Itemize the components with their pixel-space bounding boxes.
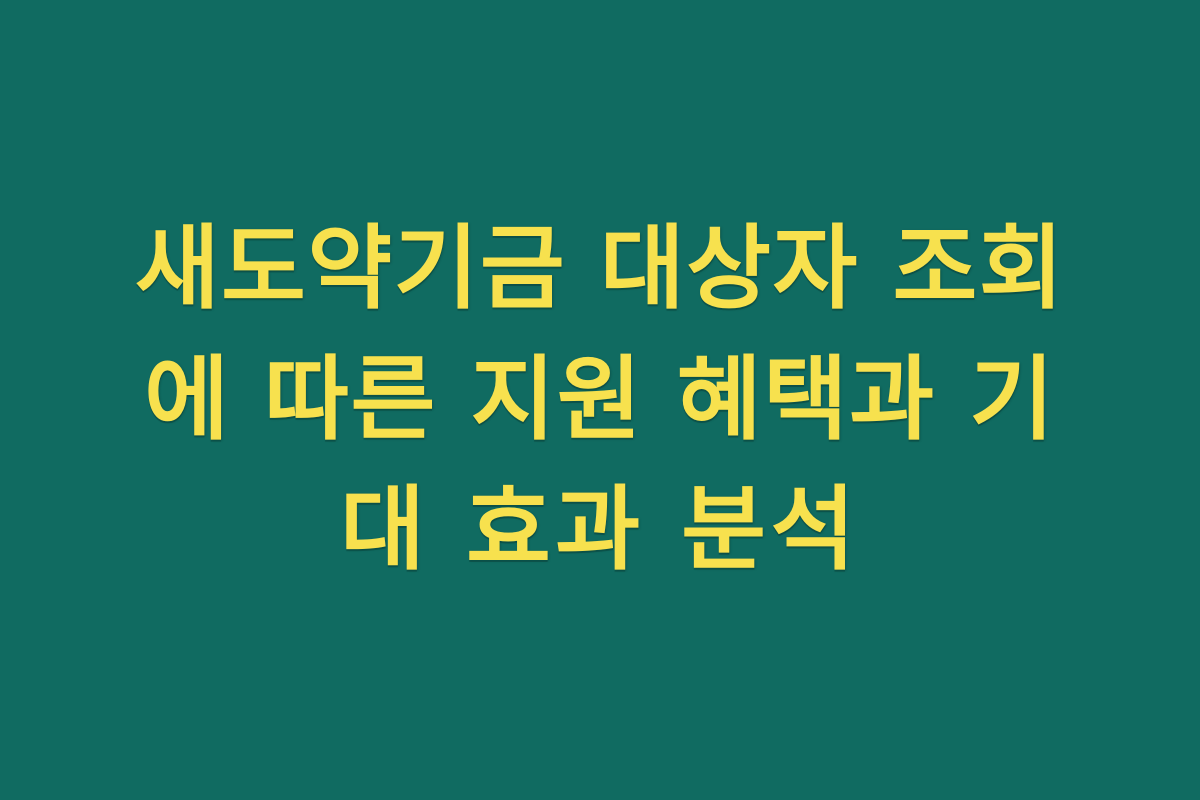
title-line-2: 에 따른 지원 혜택과 기 [85, 335, 1115, 466]
title-line-3: 대 효과 분석 [85, 465, 1115, 596]
page-title: 새도약기금 대상자 조회 에 따른 지원 혜택과 기 대 효과 분석 [85, 204, 1115, 596]
title-line-1: 새도약기금 대상자 조회 [85, 204, 1115, 335]
title-card-canvas: 새도약기금 대상자 조회 에 따른 지원 혜택과 기 대 효과 분석 [0, 0, 1200, 800]
